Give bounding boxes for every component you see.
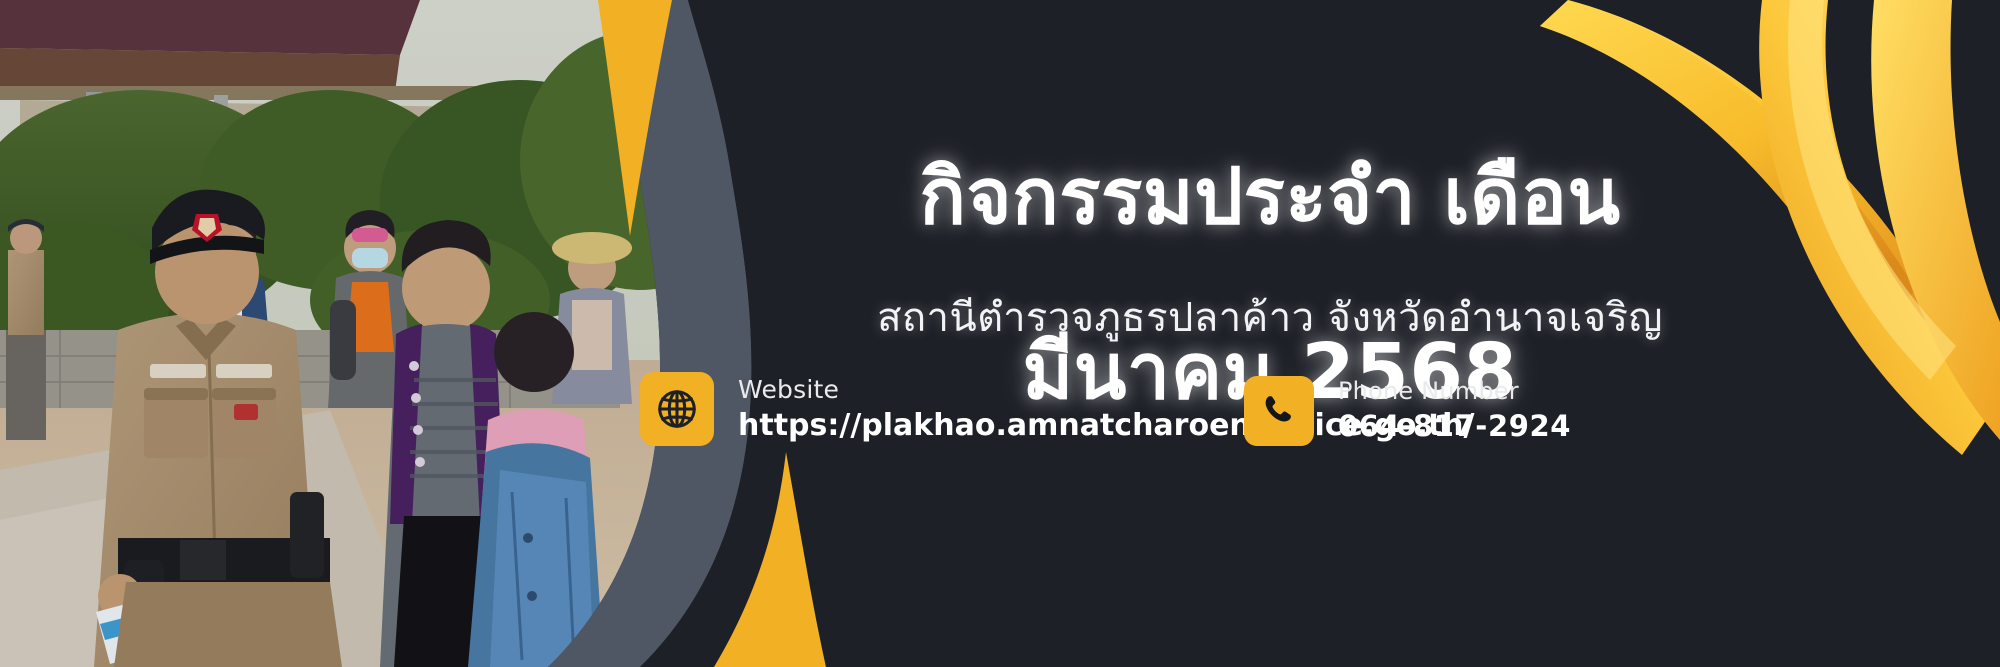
phone-icon (1244, 376, 1314, 446)
activity-banner: กิจกรรมประจำ เดือน มีนาคม 2568 สถานีตำรว… (0, 0, 2000, 667)
headline-line-1: กิจกรรมประจำ เดือน (620, 154, 1920, 242)
phone-label: Phone Number (1338, 376, 1571, 408)
globe-icon (640, 372, 714, 446)
phone-number[interactable]: 064-817-2924 (1338, 408, 1571, 446)
contact-phone[interactable]: Phone Number 064-817-2924 (1244, 376, 1571, 446)
banner-content: กิจกรรมประจำ เดือน มีนาคม 2568 สถานีตำรว… (620, 0, 2000, 667)
contact-group: Website https://plakhao.amnatcharoen.pol… (620, 372, 2000, 512)
subtitle: สถานีตำรวจภูธรปลาค้าว จังหวัดอำนาจเจริญ (620, 285, 1920, 349)
phone-text: Phone Number 064-817-2924 (1338, 376, 1571, 445)
